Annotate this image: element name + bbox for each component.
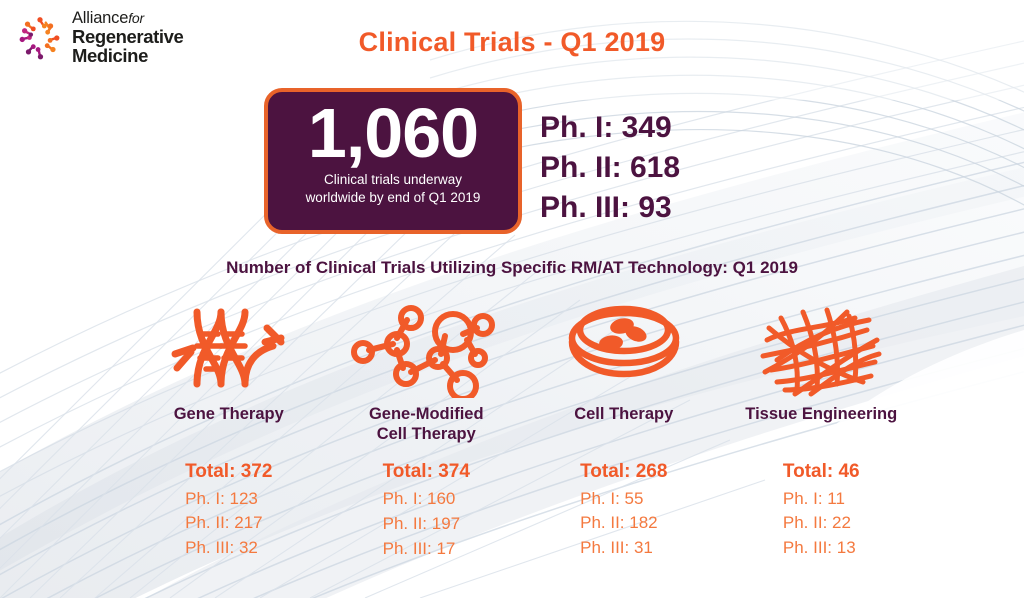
technology-phase-1: Ph. I: 11 — [783, 487, 860, 512]
technology-icon-wrap — [351, 296, 501, 400]
technology-column: Tissue Engineering Total: 46 Ph. I: 11 P… — [723, 296, 921, 561]
technology-phase-1: Ph. I: 55 — [580, 487, 667, 512]
technology-phase-1: Ph. I: 123 — [185, 487, 272, 512]
technology-phase-3: Ph. III: 31 — [580, 536, 667, 561]
technology-label: Cell Therapy — [574, 404, 673, 444]
brand-logo-word-alliance: Alliance — [72, 9, 128, 27]
technology-column: Gene-Modified Cell Therapy Total: 374 Ph… — [328, 296, 526, 562]
headline-stat-caption-line-1: Clinical trials underway — [306, 171, 481, 189]
overall-phase-2: Ph. II: 618 — [540, 148, 680, 188]
molecule-network-icon — [351, 298, 501, 398]
technology-phase-2: Ph. II: 197 — [383, 512, 470, 537]
brand-logo-word-for: for — [128, 10, 144, 26]
technology-columns: Gene Therapy Total: 372 Ph. I: 123 Ph. I… — [130, 296, 920, 562]
headline-stat-box: 1,060 Clinical trials underway worldwide… — [264, 88, 522, 234]
technology-label: Gene-Modified Cell Therapy — [369, 404, 484, 444]
technology-label-line-2: Cell Therapy — [369, 424, 484, 444]
technology-phase-3: Ph. III: 32 — [185, 536, 272, 561]
petri-dish-icon — [564, 298, 684, 398]
brand-logo-line-1: Alliancefor — [72, 10, 183, 27]
technology-label-line-1: Gene-Modified — [369, 404, 484, 424]
overall-phase-summary: Ph. I: 349 Ph. II: 618 Ph. III: 93 — [540, 108, 680, 228]
section-heading: Number of Clinical Trials Utilizing Spec… — [0, 258, 1024, 278]
infographic-canvas: Alliancefor Regenerative Medicine Clinic… — [0, 0, 1024, 598]
technology-phase-2: Ph. II: 22 — [783, 511, 860, 536]
technology-label: Gene Therapy — [174, 404, 284, 444]
technology-phase-2: Ph. II: 182 — [580, 511, 667, 536]
dna-helix-icon — [159, 298, 299, 398]
technology-icon-wrap — [159, 296, 299, 400]
technology-phase-2: Ph. II: 217 — [185, 511, 272, 536]
headline-stat-caption-line-2: worldwide by end of Q1 2019 — [306, 189, 481, 207]
technology-stats: Total: 46 Ph. I: 11 Ph. II: 22 Ph. III: … — [783, 458, 860, 561]
technology-total: Total: 372 — [185, 458, 272, 487]
fiber-scaffold-icon — [751, 298, 891, 398]
technology-phase-3: Ph. III: 17 — [383, 537, 470, 562]
technology-column: Gene Therapy Total: 372 Ph. I: 123 Ph. I… — [130, 296, 328, 561]
technology-phase-1: Ph. I: 160 — [383, 487, 470, 512]
technology-stats: Total: 268 Ph. I: 55 Ph. II: 182 Ph. III… — [580, 458, 667, 561]
technology-column: Cell Therapy Total: 268 Ph. I: 55 Ph. II… — [525, 296, 723, 561]
page-title: Clinical Trials - Q1 2019 — [0, 27, 1024, 58]
headline-stat-number: 1,060 — [308, 98, 478, 169]
technology-total: Total: 374 — [383, 458, 470, 487]
technology-stats: Total: 374 Ph. I: 160 Ph. II: 197 Ph. II… — [383, 458, 470, 561]
overall-phase-1: Ph. I: 349 — [540, 108, 680, 148]
technology-total: Total: 46 — [783, 458, 860, 487]
technology-icon-wrap — [564, 296, 684, 400]
technology-total: Total: 268 — [580, 458, 667, 487]
technology-stats: Total: 372 Ph. I: 123 Ph. II: 217 Ph. II… — [185, 458, 272, 561]
headline-stat-caption: Clinical trials underway worldwide by en… — [306, 171, 481, 207]
technology-icon-wrap — [751, 296, 891, 400]
overall-phase-3: Ph. III: 93 — [540, 188, 680, 228]
technology-phase-3: Ph. III: 13 — [783, 536, 860, 561]
technology-label: Tissue Engineering — [745, 404, 897, 444]
